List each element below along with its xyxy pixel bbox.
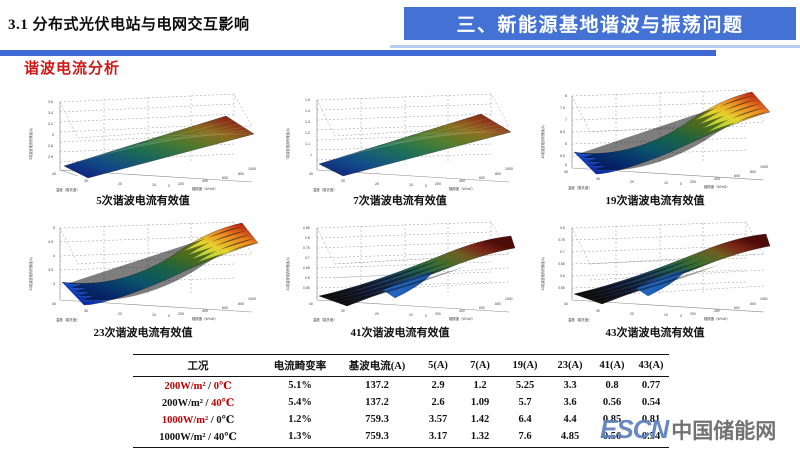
svg-text:0.75: 0.75 xyxy=(558,238,565,242)
condition-separator: / xyxy=(206,432,214,443)
plot-caption-harmonic-43: 43次谐波电流有效值 xyxy=(530,324,780,340)
svg-text:200: 200 xyxy=(178,182,184,186)
svg-text:10: 10 xyxy=(152,183,156,187)
cell-h23: 3.6 xyxy=(549,394,591,411)
svg-text:0.6: 0.6 xyxy=(305,276,310,280)
svg-text:1.2: 1.2 xyxy=(305,131,310,135)
svg-text:0.8: 0.8 xyxy=(305,236,310,240)
cell-h23: 3.3 xyxy=(549,377,591,395)
cell-h23: 4.85 xyxy=(549,428,591,445)
plot-caption-harmonic-23: 23次谐波电流有效值 xyxy=(18,324,268,340)
svg-text:400: 400 xyxy=(714,309,720,313)
condition-temperature: 40℃ xyxy=(214,432,237,443)
table-row: 1000W/m² / 40℃1.3%759.33.171.327.64.850.… xyxy=(133,428,669,445)
cell-h41: 0.85 xyxy=(591,411,633,428)
svg-text:温度（摄氏度）: 温度（摄氏度） xyxy=(56,317,80,322)
svg-text:40: 40 xyxy=(52,172,56,176)
cell-condition: 200W/m² / 0℃ xyxy=(133,377,263,395)
plot-cell-harmonic-43: 0.80.75 0.70.65 0.60.55 4030 2010 0 2004… xyxy=(530,218,780,346)
plot-grid: 3.63.4 3.23 2.82.6 4030 2010 0 200400 60… xyxy=(0,86,800,348)
svg-text:1000: 1000 xyxy=(760,165,768,169)
svg-text:1.1: 1.1 xyxy=(305,142,310,146)
svg-text:0.55: 0.55 xyxy=(303,286,310,290)
svg-text:0.85: 0.85 xyxy=(303,226,310,230)
table-header: 工况 电流畸变率 基波电流(A) 5(A) 7(A) 19(A) 23(A) 4… xyxy=(133,355,669,377)
svg-text:10: 10 xyxy=(152,313,156,317)
svg-text:1.3: 1.3 xyxy=(305,120,310,124)
surface-plot-harmonic-43: 0.80.75 0.70.65 0.60.55 4030 2010 0 2004… xyxy=(538,218,772,326)
cell-h41: 0.8 xyxy=(591,377,633,395)
svg-text:400: 400 xyxy=(459,179,465,183)
cell-fundamental: 759.3 xyxy=(337,411,417,428)
svg-text:5次谐波电流有效值(A): 5次谐波电流有效值(A) xyxy=(28,128,33,160)
svg-text:800: 800 xyxy=(750,170,756,174)
svg-text:20: 20 xyxy=(375,312,379,316)
svg-text:10: 10 xyxy=(409,313,413,317)
col-header-thd: 电流畸变率 xyxy=(263,355,337,377)
svg-text:200: 200 xyxy=(435,312,441,316)
cell-thd: 5.1% xyxy=(263,377,337,395)
svg-text:0.7: 0.7 xyxy=(560,250,565,254)
slide-subtitle: 3.1 分布式光伏电站与电网交互影响 xyxy=(8,13,250,34)
svg-text:10: 10 xyxy=(409,183,413,187)
svg-text:40: 40 xyxy=(564,302,568,306)
cell-h41: 0.56 xyxy=(591,428,633,445)
table-row: 1000W/m² / 0℃1.2%759.33.571.426.44.40.85… xyxy=(133,411,669,428)
svg-text:3: 3 xyxy=(52,133,54,137)
conditions-table-wrapper: 工况 电流畸变率 基波电流(A) 5(A) 7(A) 19(A) 23(A) 4… xyxy=(133,354,669,448)
surface-plot-harmonic-23: 54.5 43.5 3 4030 2010 0 200400 600800 10… xyxy=(26,218,260,326)
page-title: 谐波电流分析 xyxy=(24,57,120,78)
slide-root: 3.1 分布式光伏电站与电网交互影响 三、新能源基地谐波与振荡问题 谐波电流分析 xyxy=(0,0,800,450)
svg-text:20: 20 xyxy=(630,180,634,184)
svg-text:30: 30 xyxy=(84,179,88,183)
cell-h43: 0.54 xyxy=(633,428,669,445)
cell-condition: 200W/m² / 40℃ xyxy=(133,394,263,411)
svg-text:20: 20 xyxy=(118,312,122,316)
svg-text:10: 10 xyxy=(664,313,668,317)
svg-text:辐照度（W/m2）: 辐照度（W/m2） xyxy=(192,316,218,321)
condition-temperature: 0℃ xyxy=(216,415,234,426)
header-rule-dark xyxy=(0,50,716,56)
plot-caption-harmonic-19: 19次谐波电流有效值 xyxy=(530,192,780,208)
plot-cell-harmonic-23: 54.5 43.5 3 4030 2010 0 200400 600800 10… xyxy=(18,218,268,346)
svg-text:2.8: 2.8 xyxy=(48,144,53,148)
cell-h5: 2.9 xyxy=(417,377,459,395)
cell-fundamental: 137.2 xyxy=(337,377,417,395)
svg-text:20: 20 xyxy=(375,182,379,186)
svg-text:800: 800 xyxy=(495,172,501,176)
condition-irradiance: 200W/m² xyxy=(164,381,205,392)
svg-text:3.6: 3.6 xyxy=(48,100,53,104)
cell-thd: 1.2% xyxy=(263,411,337,428)
svg-text:5.5: 5.5 xyxy=(560,154,565,158)
svg-text:40: 40 xyxy=(309,172,313,176)
svg-text:0.55: 0.55 xyxy=(558,286,565,290)
svg-text:200: 200 xyxy=(690,312,696,316)
svg-text:温度（摄氏度）: 温度（摄氏度） xyxy=(313,317,337,322)
col-header-h19: 19(A) xyxy=(501,355,549,377)
svg-text:1000: 1000 xyxy=(248,297,256,301)
svg-text:19次谐波电流有效值(A): 19次谐波电流有效值(A) xyxy=(540,125,545,158)
svg-text:600: 600 xyxy=(734,174,740,178)
cell-condition: 1000W/m² / 0℃ xyxy=(133,411,263,428)
svg-text:200: 200 xyxy=(435,182,441,186)
svg-text:8: 8 xyxy=(565,94,567,98)
cell-h43: 0.54 xyxy=(633,394,669,411)
svg-text:0: 0 xyxy=(425,314,427,318)
condition-irradiance: 1000W/m² xyxy=(159,432,205,443)
svg-text:0.65: 0.65 xyxy=(303,266,310,270)
cell-h43: 0.81 xyxy=(633,411,669,428)
svg-text:10: 10 xyxy=(664,181,668,185)
condition-temperature: 40℃ xyxy=(211,398,234,409)
watermark-name: 中国储能网 xyxy=(671,415,776,445)
cell-h5: 2.6 xyxy=(417,394,459,411)
cell-h19: 7.6 xyxy=(501,428,549,445)
svg-text:1.4: 1.4 xyxy=(305,109,310,113)
cell-h41: 0.56 xyxy=(591,394,633,411)
svg-text:600: 600 xyxy=(222,306,228,310)
condition-irradiance: 200W/m² xyxy=(162,398,203,409)
surface-plot-harmonic-41: 0.850.8 0.750.7 0.650.6 0.55 4030 2010 0… xyxy=(283,218,517,326)
cell-h43: 0.77 xyxy=(633,377,669,395)
svg-text:0: 0 xyxy=(168,184,170,188)
svg-text:23次谐波电流有效值(A): 23次谐波电流有效值(A) xyxy=(28,257,33,290)
svg-text:30: 30 xyxy=(341,179,345,183)
svg-text:3.4: 3.4 xyxy=(48,111,53,115)
svg-text:5: 5 xyxy=(565,163,567,167)
col-header-h5: 5(A) xyxy=(417,355,459,377)
svg-text:800: 800 xyxy=(750,302,756,306)
svg-text:0.8: 0.8 xyxy=(560,226,565,230)
svg-text:600: 600 xyxy=(222,176,228,180)
table-header-row: 工况 电流畸变率 基波电流(A) 5(A) 7(A) 19(A) 23(A) 4… xyxy=(133,355,669,377)
condition-separator: / xyxy=(203,398,211,409)
condition-separator: / xyxy=(206,381,214,392)
plot-cell-harmonic-5: 3.63.4 3.23 2.82.6 4030 2010 0 200400 60… xyxy=(18,86,268,214)
cell-h19: 5.25 xyxy=(501,377,549,395)
plot-cell-harmonic-41: 0.850.8 0.750.7 0.650.6 0.55 4030 2010 0… xyxy=(275,218,525,346)
svg-text:4.5: 4.5 xyxy=(48,240,53,244)
col-header-condition: 工况 xyxy=(133,355,263,377)
col-header-fundamental: 基波电流(A) xyxy=(337,355,417,377)
cell-h23: 4.4 xyxy=(549,411,591,428)
col-header-h41: 41(A) xyxy=(591,355,633,377)
cell-condition: 1000W/m² / 40℃ xyxy=(133,428,263,445)
svg-text:30: 30 xyxy=(596,177,600,181)
svg-text:600: 600 xyxy=(479,306,485,310)
svg-text:41次谐波电流有效值(A): 41次谐波电流有效值(A) xyxy=(285,257,290,290)
cell-h7: 1.2 xyxy=(459,377,501,395)
svg-text:0: 0 xyxy=(680,182,682,186)
plot-caption-harmonic-7: 7次谐波电流有效值 xyxy=(275,192,525,208)
svg-text:200: 200 xyxy=(690,180,696,184)
cell-h7: 1.09 xyxy=(459,394,501,411)
svg-text:400: 400 xyxy=(714,177,720,181)
cell-fundamental: 137.2 xyxy=(337,394,417,411)
section-banner-label: 三、新能源基地谐波与振荡问题 xyxy=(456,10,743,37)
svg-text:4: 4 xyxy=(53,254,55,258)
svg-text:1000: 1000 xyxy=(760,297,768,301)
svg-text:600: 600 xyxy=(734,306,740,310)
section-banner: 三、新能源基地谐波与振荡问题 xyxy=(404,7,796,40)
plot-cell-harmonic-19: 87.5 76.5 65.5 5 4030 2010 0 200400 6008… xyxy=(530,86,780,214)
svg-text:1000: 1000 xyxy=(505,297,513,301)
svg-text:40: 40 xyxy=(52,302,56,306)
svg-text:1: 1 xyxy=(310,153,312,157)
svg-text:30: 30 xyxy=(84,309,88,313)
svg-text:1000: 1000 xyxy=(248,167,256,171)
col-header-h7: 7(A) xyxy=(459,355,501,377)
col-header-h23: 23(A) xyxy=(549,355,591,377)
svg-text:20: 20 xyxy=(630,312,634,316)
svg-text:辐照度（W/m2）: 辐照度（W/m2） xyxy=(192,186,218,191)
svg-text:7: 7 xyxy=(565,118,567,122)
cell-h7: 1.32 xyxy=(459,428,501,445)
svg-text:6: 6 xyxy=(565,142,567,146)
svg-text:20: 20 xyxy=(118,182,122,186)
plot-caption-harmonic-41: 41次谐波电流有效值 xyxy=(275,324,525,340)
svg-text:30: 30 xyxy=(596,309,600,313)
svg-text:1.5: 1.5 xyxy=(305,98,310,102)
cell-h7: 1.42 xyxy=(459,411,501,428)
svg-text:800: 800 xyxy=(495,302,501,306)
svg-text:400: 400 xyxy=(202,179,208,183)
cell-thd: 5.4% xyxy=(263,394,337,411)
svg-text:43次谐波电流有效值(A): 43次谐波电流有效值(A) xyxy=(540,257,545,290)
conditions-table: 工况 电流畸变率 基波电流(A) 5(A) 7(A) 19(A) 23(A) 4… xyxy=(133,355,669,445)
svg-text:3.5: 3.5 xyxy=(48,268,53,272)
condition-irradiance: 1000W/m² xyxy=(162,415,208,426)
plot-caption-harmonic-5: 5次谐波电流有效值 xyxy=(18,192,268,208)
svg-text:辐照度（W/m2）: 辐照度（W/m2） xyxy=(449,186,475,191)
cell-h19: 6.4 xyxy=(501,411,549,428)
table-body: 200W/m² / 0℃5.1%137.22.91.25.253.30.80.7… xyxy=(133,377,669,446)
svg-text:400: 400 xyxy=(202,309,208,313)
svg-text:0.65: 0.65 xyxy=(558,262,565,266)
svg-text:400: 400 xyxy=(459,309,465,313)
cell-h5: 3.17 xyxy=(417,428,459,445)
svg-text:600: 600 xyxy=(479,176,485,180)
svg-text:7.5: 7.5 xyxy=(560,106,565,110)
svg-text:温度（摄氏度）: 温度（摄氏度） xyxy=(568,185,592,190)
surface-plot-harmonic-7: 1.51.4 1.31.2 1.11 4030 2010 0 200400 60… xyxy=(283,86,517,194)
svg-text:3: 3 xyxy=(53,282,55,286)
svg-text:3.2: 3.2 xyxy=(48,122,53,126)
svg-text:1000: 1000 xyxy=(505,167,513,171)
svg-text:温度（摄氏度）: 温度（摄氏度） xyxy=(568,317,592,322)
cell-thd: 1.3% xyxy=(263,428,337,445)
svg-text:30: 30 xyxy=(341,309,345,313)
cell-fundamental: 759.3 xyxy=(337,428,417,445)
cell-h19: 5.7 xyxy=(501,394,549,411)
svg-text:800: 800 xyxy=(238,172,244,176)
table-row: 200W/m² / 40℃5.4%137.22.61.095.73.60.560… xyxy=(133,394,669,411)
col-header-h43: 43(A) xyxy=(633,355,669,377)
svg-text:0: 0 xyxy=(425,184,427,188)
plot-cell-harmonic-7: 1.51.4 1.31.2 1.11 4030 2010 0 200400 60… xyxy=(275,86,525,214)
svg-text:0: 0 xyxy=(168,314,170,318)
cell-h5: 3.57 xyxy=(417,411,459,428)
condition-temperature: 0℃ xyxy=(214,381,232,392)
svg-text:7次谐波电流有效值(A): 7次谐波电流有效值(A) xyxy=(285,128,290,160)
surface-plot-harmonic-19: 87.5 76.5 65.5 5 4030 2010 0 200400 6008… xyxy=(538,86,772,194)
svg-text:6.5: 6.5 xyxy=(560,130,565,134)
svg-text:0.75: 0.75 xyxy=(303,246,310,250)
svg-text:5: 5 xyxy=(53,226,55,230)
svg-text:40: 40 xyxy=(309,302,313,306)
svg-text:200: 200 xyxy=(178,312,184,316)
svg-text:800: 800 xyxy=(238,302,244,306)
header-rule-light xyxy=(390,45,800,48)
svg-text:2.6: 2.6 xyxy=(48,155,53,159)
svg-text:0: 0 xyxy=(680,314,682,318)
svg-text:辐照度（W/m2）: 辐照度（W/m2） xyxy=(449,316,475,321)
svg-text:辐照度（W/m2）: 辐照度（W/m2） xyxy=(704,316,730,321)
svg-text:0.6: 0.6 xyxy=(560,274,565,278)
svg-text:辐照度（W/m2）: 辐照度（W/m2） xyxy=(704,184,730,189)
svg-text:40: 40 xyxy=(564,170,568,174)
svg-text:0.7: 0.7 xyxy=(305,256,310,260)
surface-plot-harmonic-5: 3.63.4 3.23 2.82.6 4030 2010 0 200400 60… xyxy=(26,86,260,194)
table-row: 200W/m² / 0℃5.1%137.22.91.25.253.30.80.7… xyxy=(133,377,669,395)
